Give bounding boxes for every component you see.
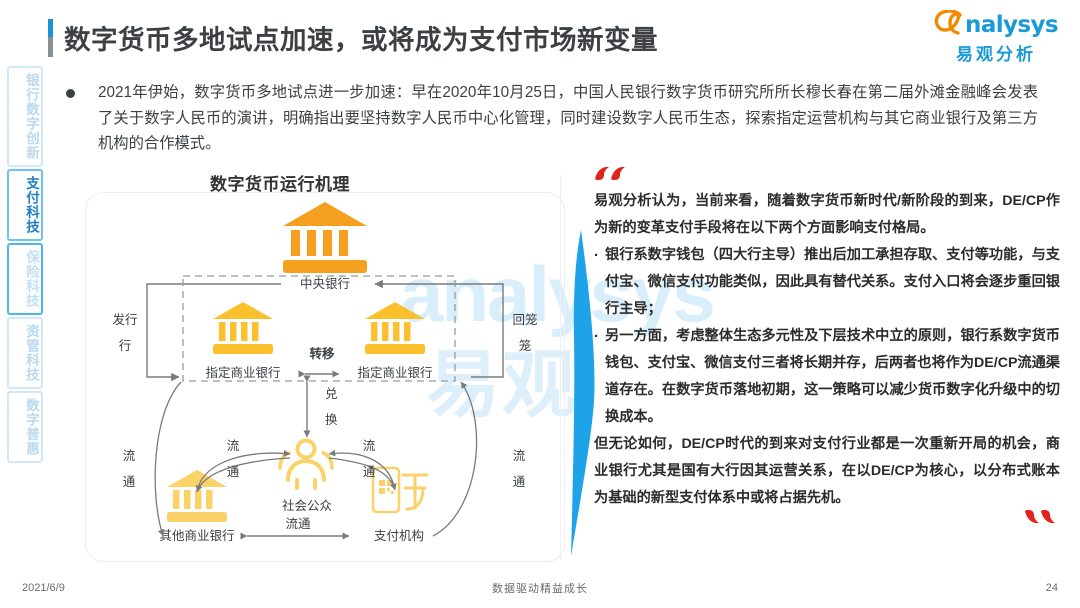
diagram-node-designated-bank-left: 指定商业银行 <box>205 365 280 380</box>
sidebar-item-banking-digital-innovation[interactable]: 银行数字创新 <box>7 66 43 167</box>
commentary-intro-paragraph: 易观分析认为，当前来看，随着数字货币新时代/新阶段的到来，DE/CP作为新的变革… <box>594 188 1060 242</box>
bank-icon-designated-left <box>213 302 273 354</box>
diagram-edge-transfer: 转移 <box>309 346 335 361</box>
quote-open-icon <box>594 166 1060 187</box>
intro-paragraph-block: 2021年伊始，数字货币多地试点进一步加速：早在2020年10月25日，中国人民… <box>66 80 1066 157</box>
diagram-edge-circulate-bottom: 流通 <box>285 517 311 531</box>
bank-icon-other-bank <box>167 470 227 522</box>
diagram-edge-exchange-char2: 换 <box>325 413 338 427</box>
title-text: 数字货币多地试点加速，或将成为支付市场新变量 <box>64 18 658 57</box>
slide-root: analysys 易观 数字货币多地试点加速，或将成为支付市场新变量 nalys… <box>0 0 1080 608</box>
commentary-bullet-list: · 银行系数字钱包（四大行主导）推出后加工承担存取、支付等功能，与支付宝、微信支… <box>594 242 1060 431</box>
page-title: 数字货币多地试点加速，或将成为支付市场新变量 <box>48 18 658 57</box>
commentary-panel: 易观分析认为，当前来看，随着数字货币新时代/新阶段的到来，DE/CP作为新的变革… <box>594 166 1060 529</box>
diagram-node-public: 社会公众 <box>282 498 332 513</box>
person-group-icon-public <box>280 441 332 489</box>
sidebar-item-label: 资管科技 <box>24 324 39 382</box>
footer-page-number: 24 <box>1046 582 1058 594</box>
phone-qr-pay-icon-payment-org <box>373 468 427 512</box>
diagram-edge-issue-char1: 发行 <box>112 312 137 327</box>
diagram-edge-circulate-midleft-char1: 流 <box>227 439 240 453</box>
diagram-edge-circulate-right-char2: 通 <box>513 475 526 489</box>
bullet-dot-icon <box>66 89 75 98</box>
footer-date: 2021/6/9 <box>22 582 65 594</box>
diagram-title: 数字货币运行机理 <box>0 170 560 195</box>
diagram-node-designated-bank-right: 指定商业银行 <box>357 365 432 380</box>
list-item: · 银行系数字钱包（四大行主导）推出后加工承担存取、支付等功能，与支付宝、微信支… <box>594 242 1060 323</box>
sidebar-nav[interactable]: 银行数字创新 支付科技 保险科技 资管科技 数字普惠 <box>7 66 43 463</box>
title-accent-bar <box>48 19 53 57</box>
diagram-edge-exchange-char1: 兑 <box>325 387 338 401</box>
logo-chinese-name: 易观分析 <box>934 40 1058 65</box>
commentary-closing-paragraph: 但无论如何，DE/CP时代的到来对支付行业都是一次重新开局的机会，商业银行尤其是… <box>594 431 1060 512</box>
diagram-edge-circulate-right-char1: 流 <box>513 449 526 463</box>
sidebar-item-asset-management-tech[interactable]: 资管科技 <box>7 317 43 389</box>
diagram-node-other-bank: 其他商业银行 <box>159 528 234 543</box>
bullet-point-icon: · <box>594 323 605 431</box>
diagram-edge-circulate-midleft-char2: 通 <box>227 465 240 479</box>
sidebar-item-label: 银行数字创新 <box>24 73 39 160</box>
brand-logo: nalysys 易观分析 <box>934 12 1058 65</box>
currency-flow-diagram: 中央银行 发行 回笼 指定商业银行 指定商业银行 <box>85 192 565 562</box>
bank-icon-central-bank <box>283 202 367 273</box>
footer: 2021/6/9 数据驱动精益成长 24 <box>0 580 1080 596</box>
diagram-node-payment-org: 支付机构 <box>374 528 424 543</box>
intro-paragraph-text: 2021年伊始，数字货币多地试点进一步加速：早在2020年10月25日，中国人民… <box>98 80 1038 157</box>
diagram-node-central-bank: 中央银行 <box>300 276 350 291</box>
diagram-edge-withdraw-char2: 笼 <box>519 338 532 353</box>
diagram-edge-issue-char2: 行 <box>119 339 132 353</box>
sidebar-item-label: 数字普惠 <box>24 398 39 456</box>
bullet-point-icon: · <box>594 242 605 323</box>
sidebar-item-label: 保险科技 <box>24 250 39 308</box>
logo-wordmark: nalysys <box>965 12 1058 38</box>
sidebar-item-insurance-tech[interactable]: 保险科技 <box>7 243 43 315</box>
diagram-edge-withdraw-char1: 回笼 <box>512 312 537 327</box>
diagram-edge-circulate-left-char1: 流 <box>123 449 136 463</box>
diagram-edge-circulate-midright-char2: 通 <box>363 465 376 479</box>
diagram-edge-circulate-left-char2: 通 <box>123 475 136 489</box>
analysys-swirl-icon <box>934 10 964 36</box>
list-item-text: 银行系数字钱包（四大行主导）推出后加工承担存取、支付等功能，与支付宝、微信支付功… <box>605 242 1060 323</box>
sidebar-item-digital-inclusive-finance[interactable]: 数字普惠 <box>7 391 43 463</box>
bank-icon-designated-right <box>365 302 425 354</box>
list-item-text: 另一方面，考虑整体生态多元性及下层技术中立的原则，银行系数字货币钱包、支付宝、微… <box>605 323 1060 431</box>
list-item: · 另一方面，考虑整体生态多元性及下层技术中立的原则，银行系数字货币钱包、支付宝… <box>594 323 1060 431</box>
footer-slogan: 数据驱动精益成长 <box>0 580 1080 596</box>
diagram-edge-circulate-midright-char1: 流 <box>363 439 376 453</box>
